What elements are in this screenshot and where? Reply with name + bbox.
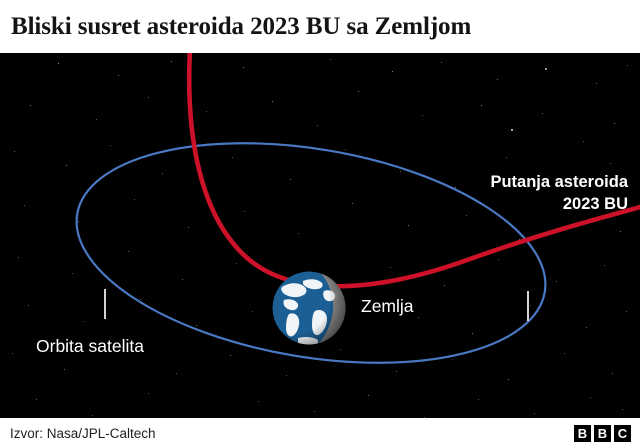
asteroid-path-leader-line xyxy=(527,291,529,321)
star xyxy=(478,399,479,400)
star xyxy=(400,171,401,172)
star xyxy=(317,125,318,126)
star xyxy=(272,101,273,102)
star xyxy=(171,61,172,62)
star xyxy=(408,225,409,226)
title-bar: Bliski susret asteroida 2023 BU sa Zemlj… xyxy=(0,0,640,53)
star xyxy=(92,415,93,416)
star xyxy=(418,317,419,318)
star xyxy=(24,205,25,206)
star xyxy=(626,311,627,312)
star xyxy=(128,251,129,252)
star xyxy=(340,349,341,350)
star xyxy=(441,62,442,63)
star xyxy=(298,233,299,234)
star xyxy=(148,97,149,98)
bbc-logo-letter-3: C xyxy=(614,425,631,442)
bbc-logo-letter-1: B xyxy=(574,425,591,442)
star xyxy=(352,203,353,204)
star xyxy=(64,369,65,370)
star xyxy=(176,373,177,374)
star xyxy=(612,373,613,374)
star xyxy=(148,393,149,394)
star xyxy=(472,333,473,334)
star xyxy=(162,173,163,174)
star xyxy=(206,111,207,112)
star xyxy=(252,311,253,312)
star xyxy=(604,265,605,266)
star xyxy=(466,215,467,216)
star xyxy=(330,59,331,60)
star xyxy=(455,187,456,188)
star xyxy=(182,279,183,280)
star xyxy=(134,199,135,200)
star xyxy=(508,379,509,380)
space-diagram-panel: Putanja asteroida 2023 BU Zemlja Orbita … xyxy=(0,53,640,418)
star xyxy=(614,123,615,124)
star xyxy=(481,105,482,106)
star xyxy=(78,221,79,222)
star xyxy=(110,145,111,146)
star xyxy=(236,263,237,264)
star xyxy=(542,113,543,114)
star xyxy=(620,231,621,232)
star xyxy=(244,211,245,212)
star xyxy=(556,281,557,282)
star xyxy=(30,105,31,106)
star xyxy=(452,359,453,360)
star xyxy=(286,375,287,376)
star xyxy=(258,401,259,402)
asteroid-trajectory-path xyxy=(189,53,640,286)
star xyxy=(84,321,85,322)
star xyxy=(196,325,197,326)
star xyxy=(511,129,513,131)
earth-globe xyxy=(272,271,346,345)
star xyxy=(590,397,591,398)
star xyxy=(314,411,315,412)
star xyxy=(530,305,531,306)
star xyxy=(498,259,499,260)
satellite-orbit-leader-line xyxy=(104,289,106,319)
star xyxy=(58,63,59,64)
star xyxy=(14,151,15,152)
star xyxy=(232,157,233,158)
footer-bar: Izvor: Nasa/JPL-Caltech B B C xyxy=(0,418,640,448)
star xyxy=(122,347,123,348)
star xyxy=(243,67,244,68)
bbc-logo: B B C xyxy=(574,425,640,442)
star xyxy=(96,119,97,120)
star xyxy=(18,257,19,258)
star xyxy=(583,141,584,142)
earth-terminator-shading xyxy=(273,272,346,345)
star xyxy=(36,399,37,400)
star xyxy=(72,273,73,274)
star xyxy=(290,179,291,180)
star xyxy=(392,71,393,72)
star xyxy=(534,413,535,414)
star xyxy=(188,227,189,228)
infographic-root: Bliski susret asteroida 2023 BU sa Zemlj… xyxy=(0,0,640,448)
star xyxy=(66,165,67,166)
star xyxy=(230,355,231,356)
star xyxy=(564,353,565,354)
star xyxy=(560,181,561,182)
star xyxy=(118,75,119,76)
star xyxy=(358,91,359,92)
star xyxy=(390,267,391,268)
star xyxy=(497,79,498,80)
star xyxy=(545,68,547,70)
star xyxy=(28,305,29,306)
star xyxy=(506,157,507,158)
star xyxy=(368,395,369,396)
star xyxy=(12,353,13,354)
star xyxy=(596,83,597,84)
page-title: Bliski susret asteroida 2023 BU sa Zemlj… xyxy=(0,13,471,41)
star xyxy=(345,149,346,150)
star xyxy=(622,409,623,410)
star xyxy=(140,299,141,300)
star xyxy=(444,285,445,286)
star xyxy=(627,65,628,66)
star xyxy=(610,163,611,164)
star xyxy=(422,115,423,116)
star xyxy=(586,327,587,328)
star xyxy=(572,209,573,210)
orbit-diagram-svg xyxy=(0,53,640,418)
bbc-logo-letter-2: B xyxy=(594,425,611,442)
star xyxy=(396,371,397,372)
source-credit: Izvor: Nasa/JPL-Caltech xyxy=(0,426,156,441)
